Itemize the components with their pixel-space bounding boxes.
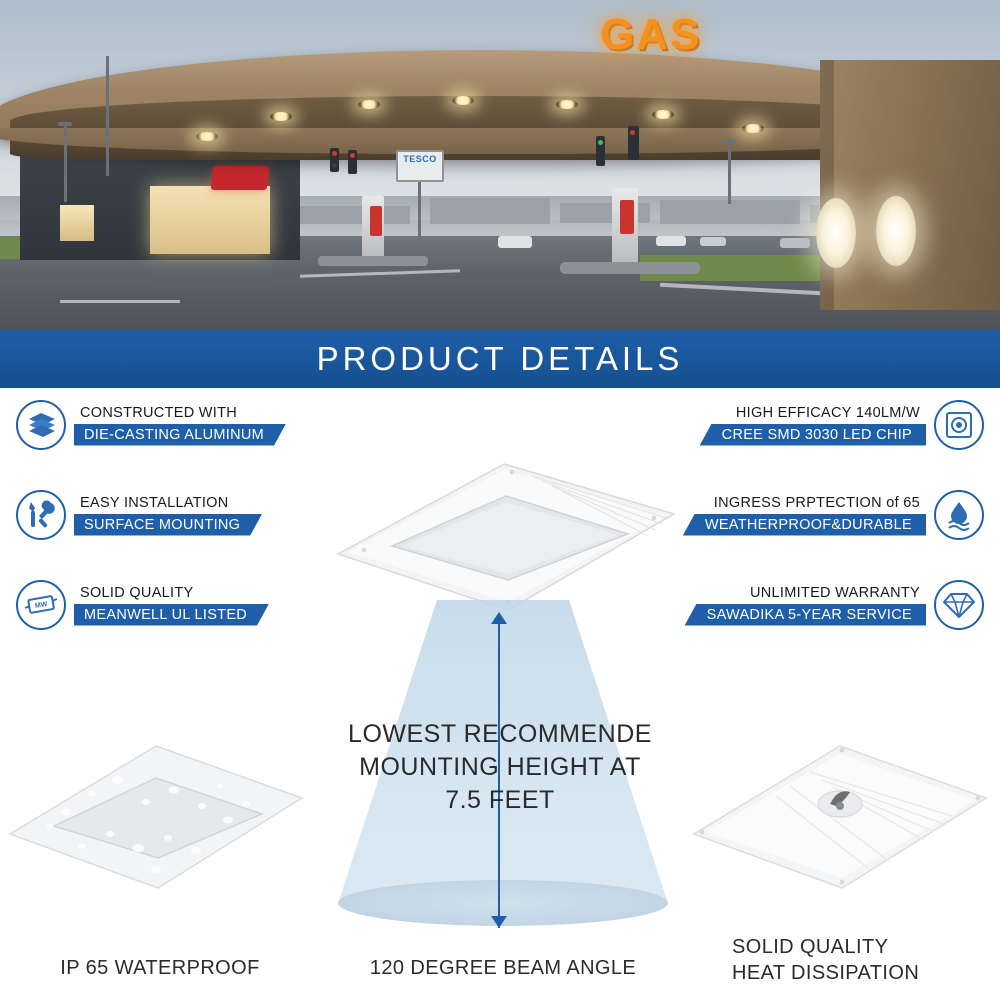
feature-text-group: SOLID QUALITY MEANWELL UL LISTED <box>74 585 269 626</box>
fixture-heat-dissipation-demo <box>690 742 990 892</box>
feature-cree-led-chip: HIGH EFFICACY 140LM/W CREE SMD 3030 LED … <box>700 400 984 450</box>
meanwell-driver-icon: MW <box>16 580 66 630</box>
page-title: PRODUCT DETAILS <box>317 340 684 378</box>
feature-line-1: INGRESS PRPTECTION of 65 <box>708 495 926 511</box>
feature-surface-mounting: EASY INSTALLATION SURFACE MOUNTING <box>16 490 262 540</box>
canopy-light <box>556 100 578 109</box>
callout-line-3: 7.5 FEET <box>300 784 700 817</box>
canopy-light <box>742 124 764 133</box>
tools-icon <box>16 490 66 540</box>
caption-text-line-1: SOLID QUALITY <box>700 934 990 960</box>
canopy-light <box>452 96 474 105</box>
traffic-light <box>348 150 357 174</box>
caption-ip65-waterproof: IP 65 WATERPROOF <box>10 955 310 981</box>
traffic-light-dot <box>332 163 337 168</box>
fuel-pump-nozzle <box>370 206 382 236</box>
distant-building <box>300 206 410 224</box>
product-details-title-bar: PRODUCT DETAILS <box>0 330 1000 388</box>
hero-photo: TESCO GAS <box>0 0 1000 330</box>
store-window-lit <box>150 186 270 254</box>
fuel-pump-island <box>560 262 700 274</box>
traffic-light <box>628 126 639 160</box>
store-logo <box>211 166 270 190</box>
feature-die-casting-aluminum: CONSTRUCTED WITH DIE-CASTING ALUMINUM <box>16 400 286 450</box>
canopy-light-fixture-main <box>336 462 676 612</box>
canopy-light <box>652 110 674 119</box>
diamond-icon <box>934 580 984 630</box>
car <box>656 236 686 246</box>
canopy-light <box>196 132 218 141</box>
distant-building <box>430 198 550 224</box>
price-signboard-label: TESCO <box>398 152 442 166</box>
road-marking <box>60 300 180 303</box>
car <box>780 238 810 248</box>
car <box>498 236 532 248</box>
price-signboard: TESCO <box>396 150 444 182</box>
feature-weatherproof-durable: INGRESS PRPTECTION of 65 WEATHERPROOF&DU… <box>683 490 984 540</box>
light-pole-head <box>58 122 72 126</box>
stacked-plates-icon <box>16 400 66 450</box>
feature-text-group: CONSTRUCTED WITH DIE-CASTING ALUMINUM <box>74 405 286 446</box>
traffic-light <box>330 148 339 172</box>
feature-line-1: UNLIMITED WARRANTY <box>744 585 926 601</box>
caption-text: 120 DEGREE BEAM ANGLE <box>370 957 636 979</box>
feature-line-2: WEATHERPROOF&DURABLE <box>683 514 926 536</box>
light-pole <box>728 140 731 204</box>
traffic-light-dot <box>630 130 635 135</box>
feature-line-2: DIE-CASTING ALUMINUM <box>74 424 286 446</box>
canopy-light <box>270 112 292 121</box>
car <box>700 237 726 246</box>
wall-light <box>816 198 856 268</box>
waterproof-drop-icon <box>934 490 984 540</box>
caption-beam-angle: 120 DEGREE BEAM ANGLE <box>340 955 666 981</box>
wall-light <box>876 196 916 266</box>
canopy-pillar <box>820 60 1000 310</box>
fixture-waterproof-demo <box>6 742 306 892</box>
arrow-head-up-icon <box>491 612 507 624</box>
feature-line-1: SOLID QUALITY <box>74 585 269 601</box>
feature-text-group: EASY INSTALLATION SURFACE MOUNTING <box>74 495 262 536</box>
fuel-pump-island <box>318 256 428 266</box>
canopy-light <box>358 100 380 109</box>
store-window-lit <box>60 205 94 241</box>
feature-line-1: HIGH EFFICACY 140LM/W <box>730 405 926 421</box>
light-pole <box>106 56 109 176</box>
light-pole <box>64 122 67 202</box>
traffic-light <box>596 136 605 166</box>
traffic-light-dot <box>332 151 337 156</box>
traffic-light-dot <box>350 153 355 158</box>
feature-line-2: SURFACE MOUNTING <box>74 514 262 536</box>
feature-line-2: CREE SMD 3030 LED CHIP <box>700 424 926 446</box>
caption-heat-dissipation: SOLID QUALITY HEAT DISSIPATION <box>700 934 990 986</box>
mounting-height-callout: LOWEST RECOMMENDE MOUNTING HEIGHT AT 7.5… <box>300 718 700 817</box>
callout-line-1: LOWEST RECOMMENDE <box>300 718 700 751</box>
feature-text-group: HIGH EFFICACY 140LM/W CREE SMD 3030 LED … <box>700 405 926 446</box>
light-pole-head <box>722 140 736 144</box>
arrow-head-down-icon <box>491 916 507 928</box>
caption-text-line-2: HEAT DISSIPATION <box>700 960 990 986</box>
price-sign-post <box>418 182 421 244</box>
feature-line-1: CONSTRUCTED WITH <box>74 405 286 421</box>
feature-line-2: MEANWELL UL LISTED <box>74 604 269 626</box>
feature-text-group: INGRESS PRPTECTION of 65 WEATHERPROOF&DU… <box>683 495 926 536</box>
feature-meanwell-ul-listed: MW SOLID QUALITY MEANWELL UL LISTED <box>16 580 269 630</box>
caption-text: IP 65 WATERPROOF <box>60 957 259 979</box>
traffic-light-dot <box>598 140 603 145</box>
gas-sign: GAS <box>600 10 701 60</box>
fuel-pump-nozzle <box>620 200 634 234</box>
feature-text-group: UNLIMITED WARRANTY SAWADIKA 5-YEAR SERVI… <box>685 585 926 626</box>
feature-line-2: SAWADIKA 5-YEAR SERVICE <box>685 604 926 626</box>
feature-sawadika-5-year-service: UNLIMITED WARRANTY SAWADIKA 5-YEAR SERVI… <box>685 580 984 630</box>
callout-line-2: MOUNTING HEIGHT AT <box>300 751 700 784</box>
feature-line-1: EASY INSTALLATION <box>74 495 262 511</box>
led-chip-icon <box>934 400 984 450</box>
